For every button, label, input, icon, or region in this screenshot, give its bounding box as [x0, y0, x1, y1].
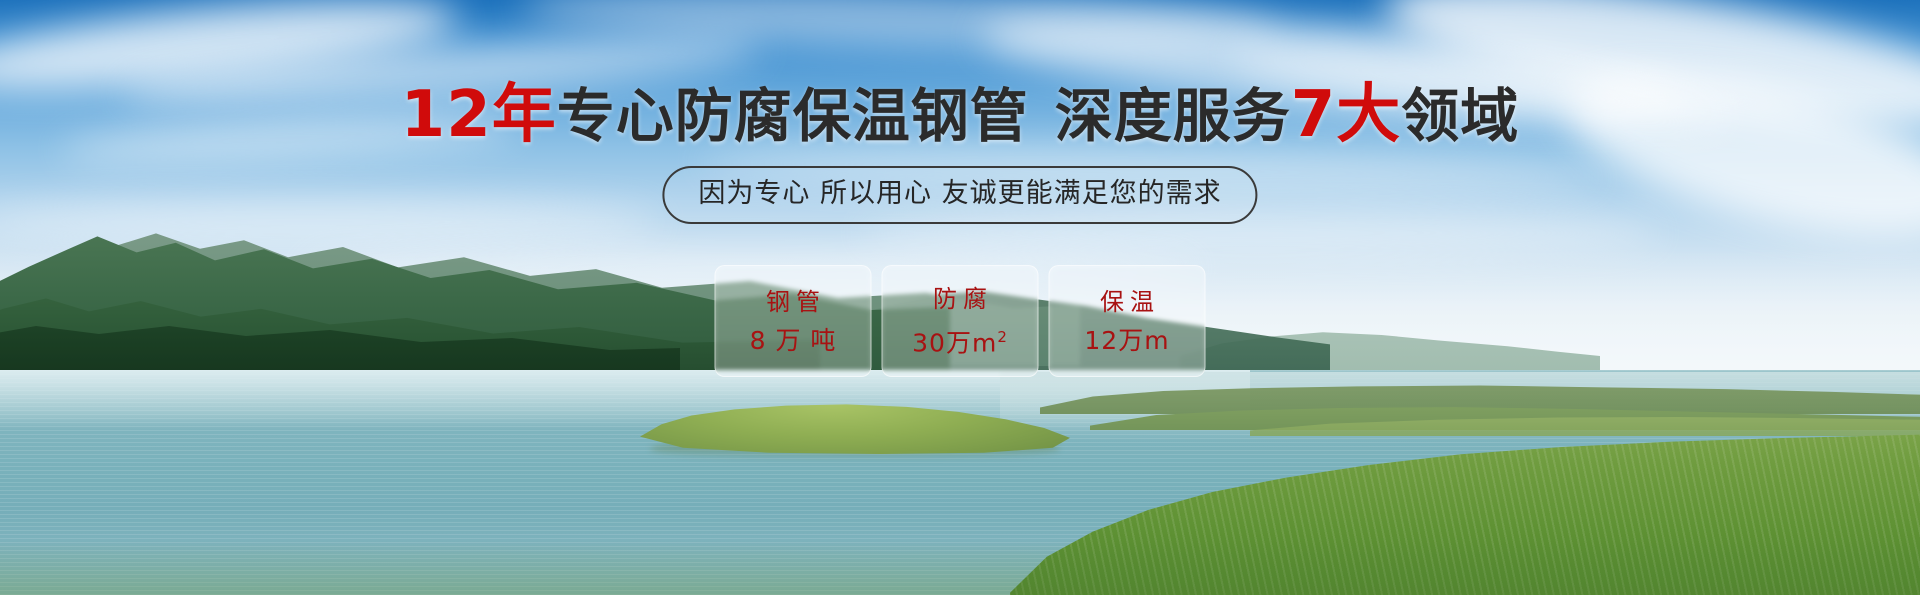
stat-card-insulation: 保温 12万m [1049, 265, 1206, 377]
banner-content: 12年专心防腐保温钢管深度服务7大领域 因为专心 所以用心 友诚更能满足您的需求… [0, 0, 1920, 595]
stat-value: 30万m2 [912, 324, 1008, 356]
stat-value: 8 万 吨 [750, 327, 837, 354]
headline-fields: 领域 [1401, 82, 1519, 150]
stat-value: 12万m [1084, 327, 1169, 354]
stat-label: 钢管 [760, 289, 826, 315]
promo-banner: 12年专心防腐保温钢管深度服务7大领域 因为专心 所以用心 友诚更能满足您的需求… [0, 0, 1920, 595]
stat-label: 保温 [1094, 289, 1160, 315]
headline-product: 专心防腐保温钢管 [557, 82, 1029, 150]
headline-service: 深度服务 [1055, 82, 1291, 150]
headline-years: 12年 [401, 78, 557, 152]
headline-fields-count: 7大 [1291, 78, 1402, 152]
stat-value-main: 30万m [912, 328, 997, 357]
stat-card-anticorrosion: 防腐 30万m2 [882, 265, 1039, 377]
banner-subtitle: 因为专心 所以用心 友诚更能满足您的需求 [662, 166, 1257, 224]
stat-label: 防腐 [927, 286, 993, 312]
stat-value-superscript: 2 [997, 328, 1008, 346]
stat-value-main: 8 万 吨 [750, 326, 837, 355]
banner-headline: 12年专心防腐保温钢管深度服务7大领域 [0, 84, 1920, 147]
stat-card-steel-pipe: 钢管 8 万 吨 [715, 265, 872, 377]
stats-card-group: 钢管 8 万 吨 防腐 30万m2 保温 12万m [715, 265, 1206, 377]
stat-value-main: 12万m [1084, 326, 1169, 355]
